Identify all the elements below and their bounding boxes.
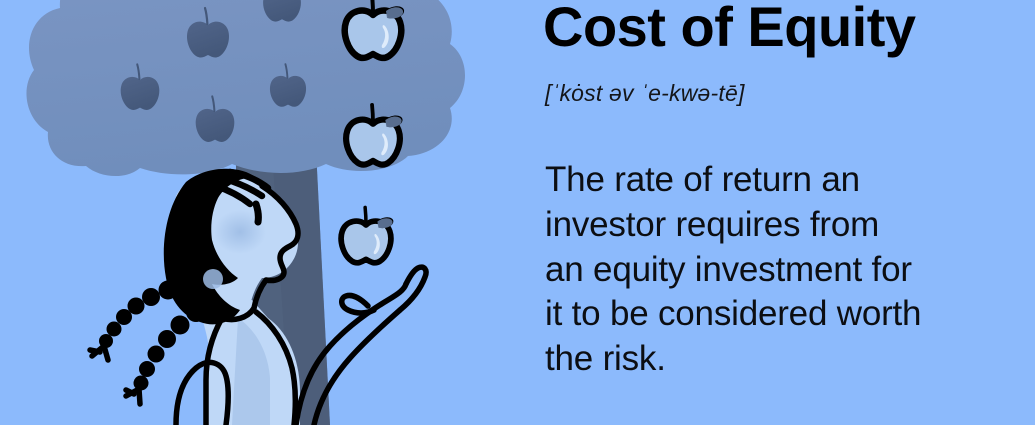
woman-eye (256, 204, 258, 222)
illustration-panel (0, 0, 500, 425)
definition-text-panel: Cost of Equity [ˈkȯst əv ˈe-kwə-tē] The … (543, 0, 1035, 425)
pronunciation-text: [ˈkȯst əv ˈe-kwə-tē] (545, 80, 745, 107)
definition-line-1: The rate of return an (545, 158, 1035, 203)
definition-body: The rate of return an investor requires … (545, 158, 1035, 382)
apple-tree-illustration (0, 0, 500, 425)
definition-line-4: it to be considered worth (545, 292, 1035, 337)
woman-ear (203, 269, 223, 289)
infographic-card: Cost of Equity [ˈkȯst əv ˈe-kwə-tē] The … (0, 0, 1035, 425)
definition-line-3: an equity investment for (545, 248, 1035, 293)
page-title: Cost of Equity (543, 0, 916, 59)
definition-line-2: investor requires from (545, 203, 1035, 248)
definition-line-5: the risk. (545, 337, 1035, 382)
